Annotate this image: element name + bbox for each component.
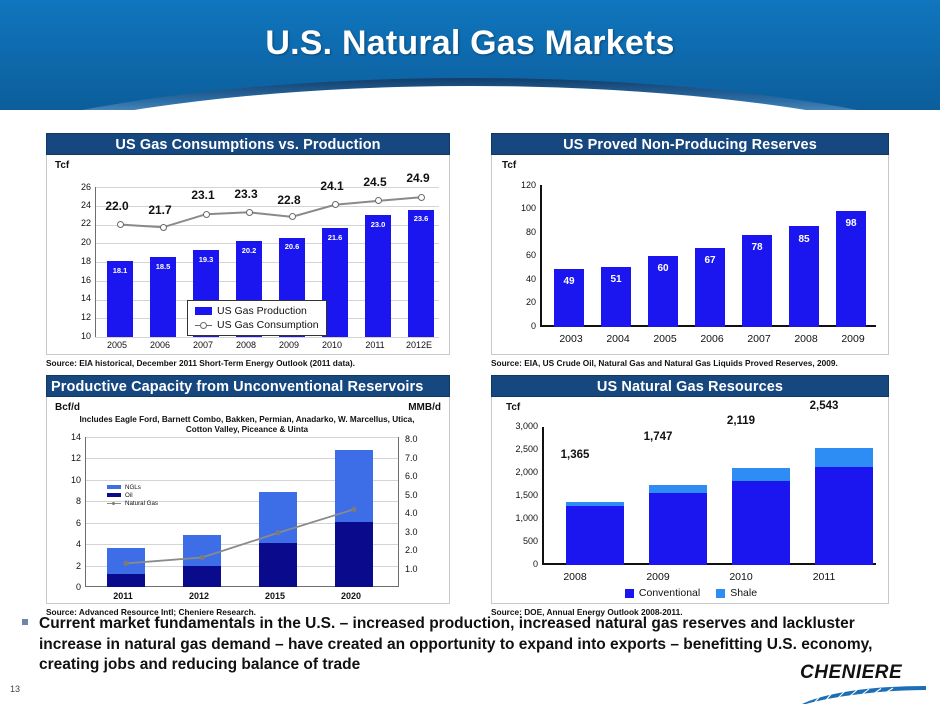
bar-value-label: 49 <box>554 276 584 287</box>
bar-segment-shale <box>649 485 707 494</box>
line-marker <box>289 213 296 220</box>
y-tick-right: 4.0 <box>405 508 435 518</box>
bar-value-label: 98 <box>836 218 866 229</box>
legend-item-ngls: NGLs <box>107 483 158 491</box>
bar-value-label: 60 <box>648 263 678 274</box>
chart-legend: US Gas Production US Gas Consumption <box>187 300 327 336</box>
bar-segment-conventional <box>649 493 707 565</box>
plot-area <box>85 437 399 587</box>
y-tick-right: 5.0 <box>405 490 435 500</box>
legend-label: Natural Gas <box>125 500 158 507</box>
legend-label: Conventional <box>639 587 700 599</box>
panel-title-top-left: US Gas Consumptions vs. Production <box>46 133 450 155</box>
logo-swoosh-icon <box>800 685 928 705</box>
y-tick: 80 <box>504 227 536 237</box>
legend-item-natural-gas: Natural Gas <box>107 499 158 507</box>
line-marker <box>160 224 167 231</box>
bar-segment-shale <box>815 448 873 467</box>
y-tick-right: 1.0 <box>405 564 435 574</box>
panel-us-proved-non-producing-reserves: US Proved Non-Producing Reserves Tcf 49 … <box>491 133 889 368</box>
y-tick-right: 7.0 <box>405 453 435 463</box>
x-tick: 2008 <box>226 340 266 350</box>
bar-total-label: 1,365 <box>546 449 604 461</box>
x-tick: 2011 <box>790 571 858 583</box>
y-tick: 22 <box>63 218 91 228</box>
bar-segment-shale <box>732 468 790 481</box>
x-tick: 2012E <box>398 340 440 350</box>
line-value-label: 22.8 <box>267 193 311 207</box>
panel-title-top-right: US Proved Non-Producing Reserves <box>491 133 889 155</box>
y-tick: 10 <box>55 475 81 485</box>
bar-value-label: 78 <box>742 242 772 253</box>
bar-total-label: 1,747 <box>629 431 687 443</box>
y-axis-unit-label-right: MMB/d <box>408 402 441 413</box>
legend-item-consumption: US Gas Consumption <box>195 318 319 332</box>
y-tick: 14 <box>63 293 91 303</box>
y-tick: 20 <box>504 297 536 307</box>
legend-label: Oil <box>125 492 133 499</box>
x-tick: 2010 <box>312 340 352 350</box>
line-marker <box>246 209 253 216</box>
line-marker <box>203 211 210 218</box>
plot-area <box>542 427 876 565</box>
line-marker <box>375 197 382 204</box>
legend-swatch-icon <box>625 589 634 598</box>
line-marker <box>332 201 339 208</box>
y-tick: 4 <box>55 539 81 549</box>
chart-us-proved-non-producing-reserves: Tcf 49 51 60 67 78 85 98 0 20 40 60 80 1… <box>491 155 889 355</box>
x-tick: 2009 <box>269 340 309 350</box>
bar-value-label: 67 <box>695 255 725 266</box>
panel-us-natural-gas-resources: US Natural Gas Resources Tcf <box>491 375 889 617</box>
bar-segment-conventional <box>732 481 790 565</box>
legend-line-icon <box>107 501 121 505</box>
y-tick: 10 <box>63 331 91 341</box>
natural-gas-line <box>85 437 399 587</box>
y-tick: 120 <box>504 180 536 190</box>
legend-line-marker-icon <box>195 321 212 329</box>
x-tick: 2015 <box>248 591 302 601</box>
chart-source-top-right: Source: EIA, US Crude Oil, Natural Gas a… <box>491 358 889 368</box>
legend-swatch-icon <box>107 485 121 489</box>
y-axis-unit-label: Tcf <box>506 402 520 413</box>
y-tick: 1,500 <box>496 490 538 500</box>
chart-subtitle: Includes Eagle Ford, Barnett Combo, Bakk… <box>77 415 417 435</box>
y-tick: 24 <box>63 200 91 210</box>
line-value-label: 24.9 <box>396 171 440 185</box>
chart-legend: Conventional Shale <box>492 587 890 599</box>
legend-label: Shale <box>730 587 757 599</box>
chart-source-top-left: Source: EIA historical, December 2011 Sh… <box>46 358 450 368</box>
legend-swatch-icon <box>107 493 121 497</box>
legend-item-production: US Gas Production <box>195 304 319 318</box>
x-tick: 2008 <box>541 571 609 583</box>
y-tick: 20 <box>63 237 91 247</box>
y-tick-right: 3.0 <box>405 527 435 537</box>
y-tick: 0 <box>55 582 81 592</box>
y-tick: 60 <box>504 250 536 260</box>
legend-swatch-icon <box>716 589 725 598</box>
x-tick: 2011 <box>96 591 150 601</box>
y-tick: 6 <box>55 518 81 528</box>
y-axis-unit-label: Tcf <box>502 160 516 171</box>
y-tick: 2,500 <box>496 444 538 454</box>
x-tick: 2011 <box>355 340 395 350</box>
plot-area: 49 51 60 67 78 85 98 <box>540 185 876 327</box>
y-axis-unit-label: Tcf <box>55 160 69 171</box>
bar-value-label: 85 <box>789 234 819 245</box>
y-tick: 3,000 <box>496 421 538 431</box>
panel-us-gas-consumption-vs-production: US Gas Consumptions vs. Production Tcf 1 <box>46 133 450 368</box>
legend-label: US Gas Consumption <box>217 319 319 331</box>
x-tick: 2009 <box>624 571 692 583</box>
summary-bullet-text: Current market fundamentals in the U.S. … <box>39 614 912 676</box>
y-tick: 40 <box>504 274 536 284</box>
x-tick: 2012 <box>172 591 226 601</box>
line-value-label: 24.1 <box>310 179 354 193</box>
chart-us-gas-consumption-vs-production: Tcf 18.1 18.5 19.3 20.2 <box>46 155 450 355</box>
page-number: 13 <box>10 684 20 694</box>
x-tick: 2010 <box>707 571 775 583</box>
summary-bullet: Current market fundamentals in the U.S. … <box>22 614 912 676</box>
x-tick: 2009 <box>821 333 885 345</box>
legend-label: US Gas Production <box>217 305 307 317</box>
legend-item-conventional: Conventional <box>625 587 700 599</box>
legend-label: NGLs <box>125 484 141 491</box>
y-tick: 14 <box>55 432 81 442</box>
y-axis-unit-label-left: Bcf/d <box>55 402 80 413</box>
line-value-label: 22.0 <box>95 199 139 213</box>
y-tick: 100 <box>504 203 536 213</box>
x-tick: 2005 <box>97 340 137 350</box>
bar-segment-shale <box>566 502 624 506</box>
y-tick: 1,000 <box>496 513 538 523</box>
chart-us-natural-gas-resources: Tcf 1,365 1,747 <box>491 397 889 604</box>
line-value-label: 23.3 <box>224 187 268 201</box>
line-value-label: 21.7 <box>138 203 182 217</box>
bar-value-label: 51 <box>601 274 631 285</box>
legend-item-oil: Oil <box>107 491 158 499</box>
chart-legend: NGLs Oil Natural Gas <box>107 483 158 507</box>
line-value-label: 23.1 <box>181 188 225 202</box>
logo-wordmark: CHENIERE <box>800 662 930 684</box>
y-tick: 12 <box>63 312 91 322</box>
page-title: U.S. Natural Gas Markets <box>0 24 940 63</box>
panel-title-bottom-left: Productive Capacity from Unconventional … <box>46 375 450 397</box>
line-marker <box>117 221 124 228</box>
bar-segment-conventional <box>566 506 624 565</box>
y-tick: 500 <box>496 536 538 546</box>
panel-title-bottom-right: US Natural Gas Resources <box>491 375 889 397</box>
y-tick: 2,000 <box>496 467 538 477</box>
slide-header-banner: U.S. Natural Gas Markets <box>0 0 940 110</box>
y-tick: 18 <box>63 256 91 266</box>
y-tick: 0 <box>504 321 536 331</box>
line-value-label: 24.5 <box>353 175 397 189</box>
panel-productive-capacity: Productive Capacity from Unconventional … <box>46 375 450 617</box>
y-tick-right: 2.0 <box>405 545 435 555</box>
y-tick: 8 <box>55 496 81 506</box>
x-tick: 2020 <box>324 591 378 601</box>
y-tick: 0 <box>496 559 538 569</box>
y-tick: 2 <box>55 561 81 571</box>
x-tick: 2007 <box>183 340 223 350</box>
y-tick-right: 8.0 <box>405 434 435 444</box>
x-tick: 2006 <box>140 340 180 350</box>
y-tick: 16 <box>63 275 91 285</box>
y-tick: 26 <box>63 182 91 192</box>
chart-productive-capacity: Bcf/d MMB/d Includes Eagle Ford, Barnett… <box>46 397 450 604</box>
cheniere-logo: CHENIERE <box>800 662 930 702</box>
bar-total-label: 2,543 <box>795 400 853 412</box>
y-tick: 12 <box>55 453 81 463</box>
bar-segment-conventional <box>815 467 873 565</box>
line-marker <box>418 194 425 201</box>
legend-swatch-icon <box>195 307 212 315</box>
legend-item-shale: Shale <box>716 587 757 599</box>
bar-total-label: 2,119 <box>712 415 770 427</box>
bullet-marker-icon <box>22 619 28 625</box>
y-tick-right: 6.0 <box>405 471 435 481</box>
